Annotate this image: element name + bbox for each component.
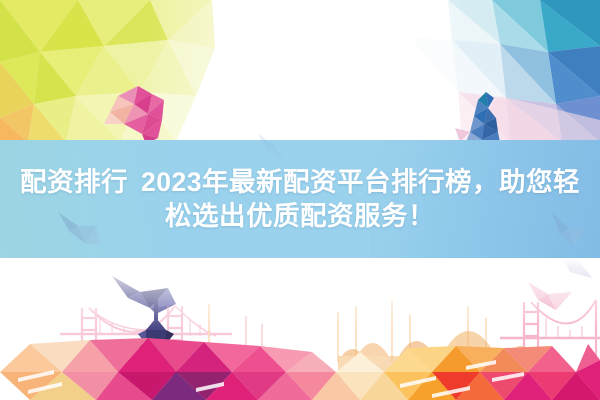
skyline-illustration bbox=[0, 0, 600, 400]
promo-banner: 配资排行2023年最新配资平台排行榜，助您轻 松选出优质配资服务！ bbox=[0, 0, 600, 400]
